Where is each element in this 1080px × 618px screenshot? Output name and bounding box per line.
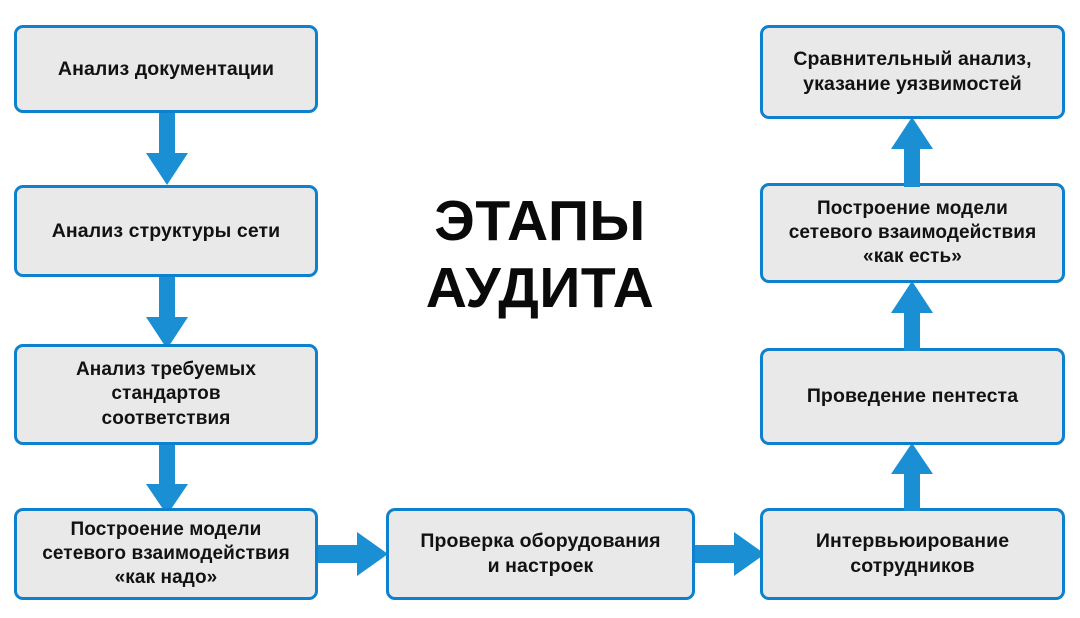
- arrow-up-r2-to-r1: [891, 117, 933, 187]
- process-node-provedenie-pentesta[interactable]: Проведение пентеста: [760, 348, 1065, 445]
- diagram-title-line-1: ЭТАПЫ: [360, 188, 720, 255]
- diagram-title: ЭТАПЫ АУДИТА: [360, 188, 720, 321]
- node-label: Сравнительный анализ, указание уязвимост…: [793, 47, 1031, 97]
- arrow-down-l1-to-l2: [146, 113, 188, 185]
- node-label: Проведение пентеста: [807, 384, 1018, 409]
- process-node-sravnitelnyj-analiz[interactable]: Сравнительный анализ, указание уязвимост…: [760, 25, 1065, 119]
- node-label: Проверка оборудования и настроек: [420, 529, 660, 579]
- process-node-proverka-oborudovaniya[interactable]: Проверка оборудования и настроек: [386, 508, 695, 600]
- arrow-down-l3-to-l4: [146, 445, 188, 515]
- process-node-analiz-struktury-seti[interactable]: Анализ структуры сети: [14, 185, 318, 277]
- node-label: Анализ структуры сети: [52, 219, 281, 244]
- node-label: Анализ документации: [58, 57, 274, 82]
- arrow-up-r3-to-r2: [891, 281, 933, 351]
- node-label: Анализ требуемых стандартов соответствия: [76, 358, 256, 431]
- node-label: Интервьюирование сотрудников: [816, 529, 1009, 579]
- process-node-analiz-trebuemyh-standartov[interactable]: Анализ требуемых стандартов соответствия: [14, 344, 318, 445]
- process-node-model-kak-est[interactable]: Построение модели сетевого взаимодействи…: [760, 183, 1065, 283]
- arrow-down-l2-to-l3: [146, 277, 188, 349]
- process-node-intervyuirovanie-sotrudnikov[interactable]: Интервьюирование сотрудников: [760, 508, 1065, 600]
- diagram-canvas: Анализ документации Анализ структуры сет…: [0, 0, 1080, 618]
- node-label: Построение модели сетевого взаимодействи…: [789, 197, 1037, 270]
- process-node-model-kak-nado[interactable]: Построение модели сетевого взаимодействи…: [14, 508, 318, 600]
- process-node-analiz-dokumentacii[interactable]: Анализ документации: [14, 25, 318, 113]
- arrow-right-c1-to-r4: [695, 532, 765, 576]
- diagram-title-line-2: АУДИТА: [360, 255, 720, 322]
- arrow-up-r4-to-r3: [891, 443, 933, 511]
- node-label: Построение модели сетевого взаимодействи…: [42, 518, 290, 591]
- arrow-right-l4-to-c1: [318, 532, 388, 576]
